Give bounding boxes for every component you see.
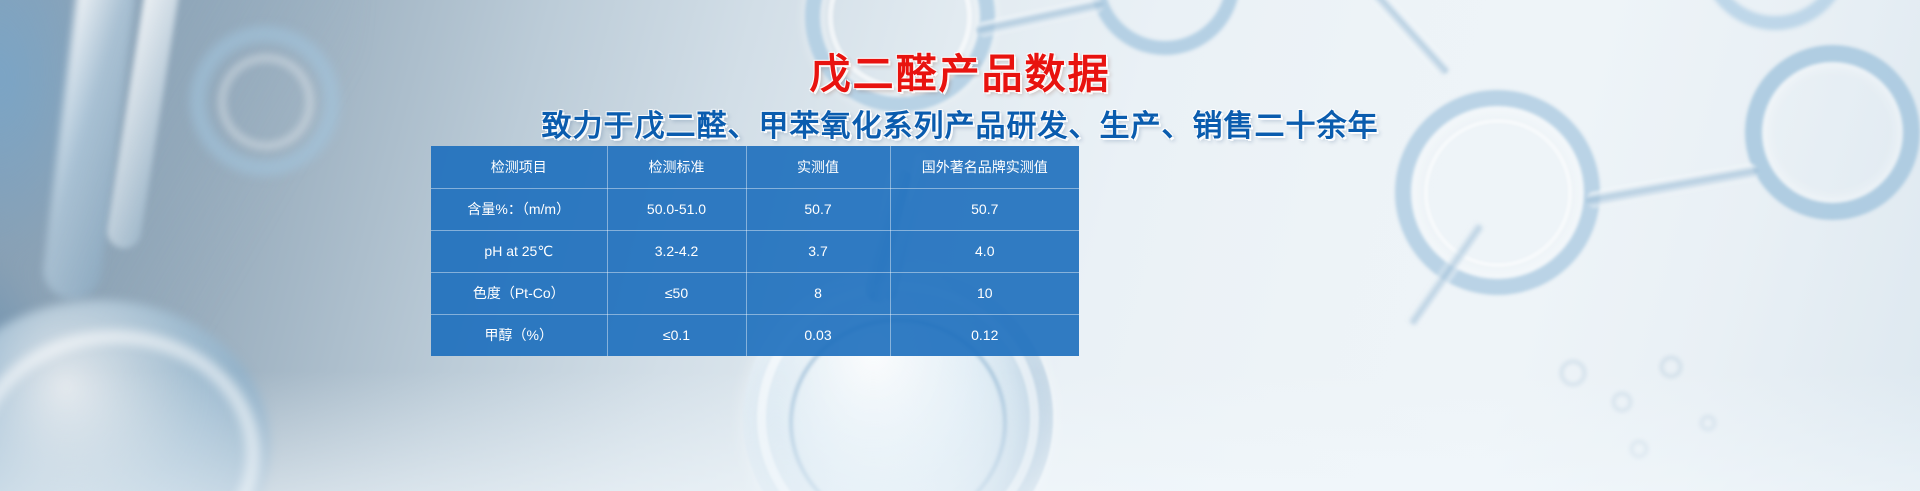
molecule-bond-2-icon xyxy=(1585,163,1760,209)
cell-standard: ≤50 xyxy=(607,272,746,314)
cell-foreign-brand: 50.7 xyxy=(890,188,1079,230)
page-title: 戊二醛产品数据 xyxy=(0,50,1920,98)
cell-standard: 3.2-4.2 xyxy=(607,230,746,272)
cell-item: 含量%：（m/m） xyxy=(431,188,607,230)
column-header-standard: 检测标准 xyxy=(607,146,746,188)
glass-flask-highlight-icon xyxy=(0,330,260,491)
cell-measured: 3.7 xyxy=(746,230,890,272)
product-data-banner: 戊二醛产品数据 致力于戊二醛、甲苯氧化系列产品研发、生产、销售二十余年 检测项目… xyxy=(0,0,1920,491)
glass-flask-bulb-icon xyxy=(0,300,270,491)
molecule-dot-4-icon xyxy=(1630,440,1648,458)
bottom-glow-overlay xyxy=(0,371,1920,491)
molecule-bond-1-icon xyxy=(975,0,1105,38)
molecule-dot-1-icon xyxy=(1560,360,1586,386)
table-row: 含量%：（m/m） 50.0-51.0 50.7 50.7 xyxy=(431,188,1079,230)
column-header-measured: 实测值 xyxy=(746,146,890,188)
molecule-dot-3-icon xyxy=(1660,356,1682,378)
molecule-dot-2-icon xyxy=(1612,392,1632,412)
table-header: 检测项目 检测标准 实测值 国外著名品牌实测值 xyxy=(431,146,1079,188)
table-row: pH at 25℃ 3.2-4.2 3.7 4.0 xyxy=(431,230,1079,272)
molecule-ring-e-icon xyxy=(1700,0,1850,30)
product-data-table-container: 检测项目 检测标准 实测值 国外著名品牌实测值 含量%：（m/m） 50.0-5… xyxy=(431,146,1079,358)
column-header-item: 检测项目 xyxy=(431,146,607,188)
table-body: 含量%：（m/m） 50.0-51.0 50.7 50.7 pH at 25℃ … xyxy=(431,188,1079,356)
molecule-bond-4-icon xyxy=(1406,222,1485,328)
table-header-row: 检测项目 检测标准 实测值 国外著名品牌实测值 xyxy=(431,146,1079,188)
cell-foreign-brand: 10 xyxy=(890,272,1079,314)
cell-item: 色度（Pt-Co） xyxy=(431,272,607,314)
cell-standard: ≤0.1 xyxy=(607,314,746,356)
glass-tube-stem-icon xyxy=(40,0,138,302)
cell-item: pH at 25℃ xyxy=(431,230,607,272)
molecule-dot-5-icon xyxy=(1700,415,1716,431)
table-row: 甲醇（%） ≤0.1 0.03 0.12 xyxy=(431,314,1079,356)
cell-measured: 50.7 xyxy=(746,188,890,230)
cell-measured: 0.03 xyxy=(746,314,890,356)
product-data-table: 检测项目 检测标准 实测值 国外著名品牌实测值 含量%：（m/m） 50.0-5… xyxy=(431,146,1079,356)
banner-heading-group: 戊二醛产品数据 致力于戊二醛、甲苯氧化系列产品研发、生产、销售二十余年 xyxy=(0,50,1920,145)
cell-standard: 50.0-51.0 xyxy=(607,188,746,230)
cell-foreign-brand: 0.12 xyxy=(890,314,1079,356)
cell-foreign-brand: 4.0 xyxy=(890,230,1079,272)
column-header-foreign-brand: 国外著名品牌实测值 xyxy=(890,146,1079,188)
table-row: 色度（Pt-Co） ≤50 8 10 xyxy=(431,272,1079,314)
cell-item: 甲醇（%） xyxy=(431,314,607,356)
page-subtitle: 致力于戊二醛、甲苯氧化系列产品研发、生产、销售二十余年 xyxy=(0,109,1920,145)
molecule-ring-b-icon xyxy=(1090,0,1240,55)
cell-measured: 8 xyxy=(746,272,890,314)
